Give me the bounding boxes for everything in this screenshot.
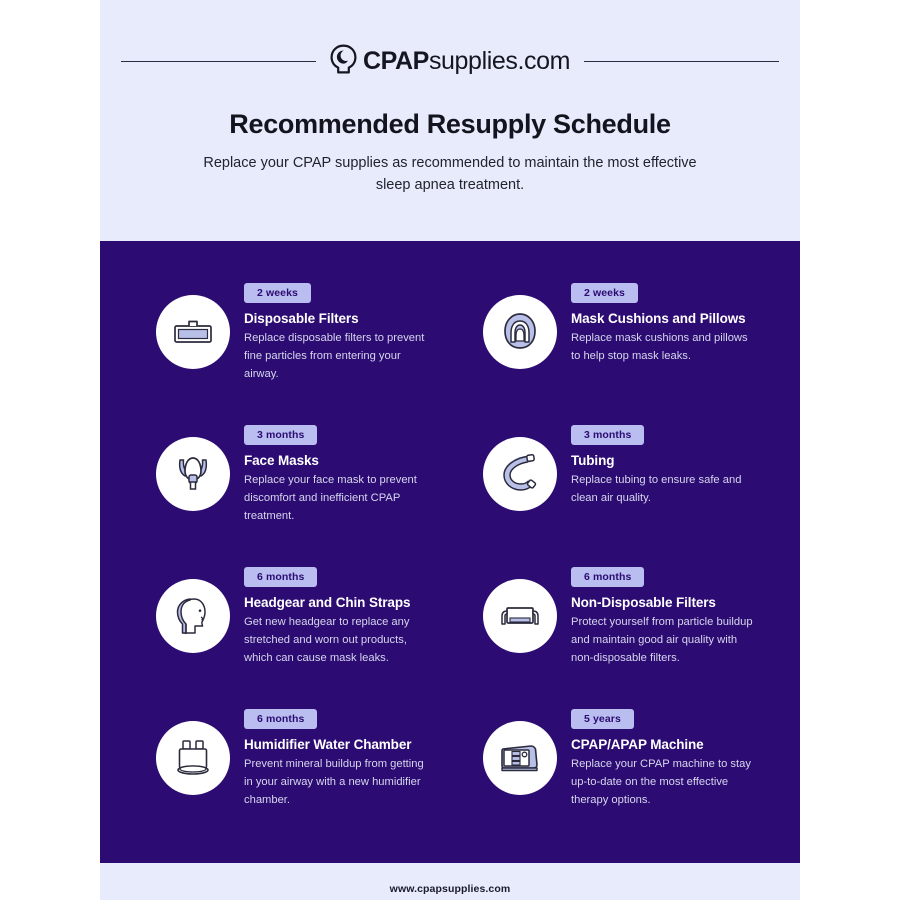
schedule-panel: 2 weeks Disposable Filters Replace dispo… bbox=[100, 241, 800, 863]
page-subtitle: Replace your CPAP supplies as recommende… bbox=[100, 152, 800, 197]
headgear-icon bbox=[156, 579, 230, 653]
item-description: Replace mask cushions and pillows to hel… bbox=[571, 329, 753, 365]
schedule-item-body: 5 years CPAP/APAP Machine Replace your C… bbox=[571, 701, 776, 809]
page-title: Recommended Resupply Schedule bbox=[100, 109, 800, 140]
footer: www.cpapsupplies.com bbox=[100, 863, 800, 900]
humidifier-chamber-icon bbox=[156, 721, 230, 795]
tubing-icon bbox=[483, 437, 557, 511]
item-description: Replace disposable filters to prevent fi… bbox=[244, 329, 426, 383]
mask-cushion-icon bbox=[483, 295, 557, 369]
schedule-item: 2 weeks Disposable Filters Replace dispo… bbox=[124, 275, 449, 417]
item-title: CPAP/APAP Machine bbox=[571, 737, 776, 752]
item-description: Prevent mineral buildup from getting in … bbox=[244, 755, 426, 809]
schedule-item-body: 2 weeks Mask Cushions and Pillows Replac… bbox=[571, 275, 776, 365]
footer-website-link[interactable]: www.cpapsupplies.com bbox=[390, 883, 511, 895]
item-description: Replace tubing to ensure safe and clean … bbox=[571, 471, 753, 507]
item-description: Replace your face mask to prevent discom… bbox=[244, 471, 426, 525]
schedule-item: 6 months Non-Disposable Filters Protect … bbox=[451, 559, 776, 701]
schedule-item-body: 3 months Tubing Replace tubing to ensure… bbox=[571, 417, 776, 507]
schedule-grid: 2 weeks Disposable Filters Replace dispo… bbox=[124, 275, 776, 843]
divider-right bbox=[584, 61, 779, 62]
brand-name-bold: CPAP bbox=[363, 47, 429, 75]
schedule-item-body: 2 weeks Disposable Filters Replace dispo… bbox=[244, 275, 449, 383]
infographic-page: CPAPsupplies.com Recommended Resupply Sc… bbox=[0, 0, 900, 900]
item-title: Face Masks bbox=[244, 453, 449, 468]
item-description: Protect yourself from particle buildup a… bbox=[571, 613, 753, 667]
item-title: Headgear and Chin Straps bbox=[244, 595, 449, 610]
divider-left bbox=[121, 61, 316, 62]
brand-row: CPAPsupplies.com bbox=[100, 44, 800, 79]
interval-badge: 2 weeks bbox=[244, 283, 311, 303]
cpap-machine-icon bbox=[483, 721, 557, 795]
disposable-filter-icon bbox=[156, 295, 230, 369]
interval-badge: 2 weeks bbox=[571, 283, 638, 303]
interval-badge: 6 months bbox=[244, 567, 317, 587]
schedule-item-body: 3 months Face Masks Replace your face ma… bbox=[244, 417, 449, 525]
item-title: Non-Disposable Filters bbox=[571, 595, 776, 610]
interval-badge: 3 months bbox=[244, 425, 317, 445]
schedule-item-body: 6 months Humidifier Water Chamber Preven… bbox=[244, 701, 449, 809]
item-title: Disposable Filters bbox=[244, 311, 449, 326]
item-title: Mask Cushions and Pillows bbox=[571, 311, 776, 326]
interval-badge: 6 months bbox=[571, 567, 644, 587]
schedule-item-body: 6 months Non-Disposable Filters Protect … bbox=[571, 559, 776, 667]
schedule-item-body: 6 months Headgear and Chin Straps Get ne… bbox=[244, 559, 449, 667]
schedule-item: 5 years CPAP/APAP Machine Replace your C… bbox=[451, 701, 776, 843]
header: CPAPsupplies.com Recommended Resupply Sc… bbox=[100, 0, 800, 197]
non-disposable-filter-icon bbox=[483, 579, 557, 653]
item-title: Humidifier Water Chamber bbox=[244, 737, 449, 752]
schedule-item: 6 months Humidifier Water Chamber Preven… bbox=[124, 701, 449, 843]
interval-badge: 6 months bbox=[244, 709, 317, 729]
brand-name: CPAPsupplies.com bbox=[363, 49, 570, 74]
brand-logo: CPAPsupplies.com bbox=[330, 44, 570, 79]
moon-pin-icon bbox=[330, 44, 357, 79]
interval-badge: 5 years bbox=[571, 709, 634, 729]
brand-name-light: supplies.com bbox=[429, 47, 570, 75]
schedule-item: 3 months Tubing Replace tubing to ensure… bbox=[451, 417, 776, 559]
item-description: Get new headgear to replace any stretche… bbox=[244, 613, 426, 667]
schedule-item: 2 weeks Mask Cushions and Pillows Replac… bbox=[451, 275, 776, 417]
schedule-item: 3 months Face Masks Replace your face ma… bbox=[124, 417, 449, 559]
schedule-item: 6 months Headgear and Chin Straps Get ne… bbox=[124, 559, 449, 701]
item-title: Tubing bbox=[571, 453, 776, 468]
item-description: Replace your CPAP machine to stay up-to-… bbox=[571, 755, 753, 809]
infographic-sheet: CPAPsupplies.com Recommended Resupply Sc… bbox=[100, 0, 800, 900]
face-mask-icon bbox=[156, 437, 230, 511]
interval-badge: 3 months bbox=[571, 425, 644, 445]
